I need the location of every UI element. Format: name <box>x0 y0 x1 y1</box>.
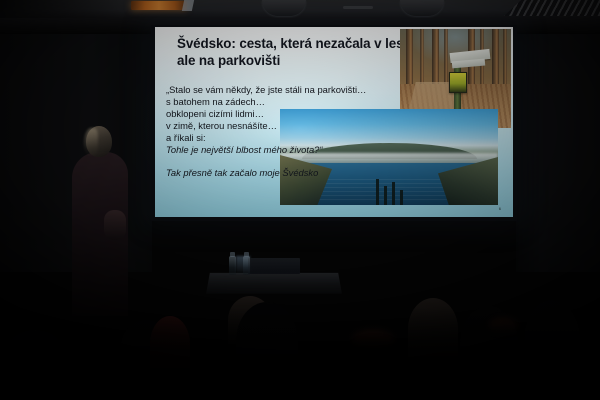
audience-warm-highlight <box>352 330 394 348</box>
audience-head <box>236 302 298 380</box>
audience-warm-highlight <box>488 318 518 334</box>
audience-head <box>0 330 70 400</box>
water-bottle <box>243 256 250 275</box>
presentation-slide: Švédsko: cesta, která nezačala v lese al… <box>155 27 513 217</box>
slide-body-line: „Stalo se vám někdy, že jste stáli na pa… <box>166 84 416 96</box>
water-bottle-cap <box>244 252 249 257</box>
slide-body-line: s batohem na zádech… <box>166 96 416 108</box>
conference-room-scene: Švédsko: cesta, která nezačala v lese al… <box>0 0 600 400</box>
slide-body-line: v zimě, kterou nesnášíte… <box>166 120 416 132</box>
slide-page-number: 6 <box>499 206 501 211</box>
water-bottle-cap <box>230 252 235 257</box>
presenter-silhouette <box>68 126 134 316</box>
audience-head <box>150 316 190 372</box>
trail-marker-icon <box>449 72 467 93</box>
slide-body-text: „Stalo se vám někdy, že jste stáli na pa… <box>166 84 416 155</box>
audience-head <box>460 306 518 380</box>
slide-body-line: a říkali si: <box>166 132 416 144</box>
slide-body-quote-line: Tohle je největší blbost mého života?“ <box>166 144 416 156</box>
slide-body-line: obklopeni cizími lidmi… <box>166 108 416 120</box>
audience-head <box>524 300 580 380</box>
water-bottle <box>229 256 236 275</box>
ceiling-slit-icon <box>343 6 373 9</box>
audience-head <box>408 298 458 360</box>
wall-right <box>516 22 600 272</box>
exit-light-icon <box>131 1 187 10</box>
laptop <box>248 258 300 274</box>
presenter-table <box>206 273 342 294</box>
slide-closing-line: Tak přesně tak začalo moje Švédsko <box>166 167 318 178</box>
